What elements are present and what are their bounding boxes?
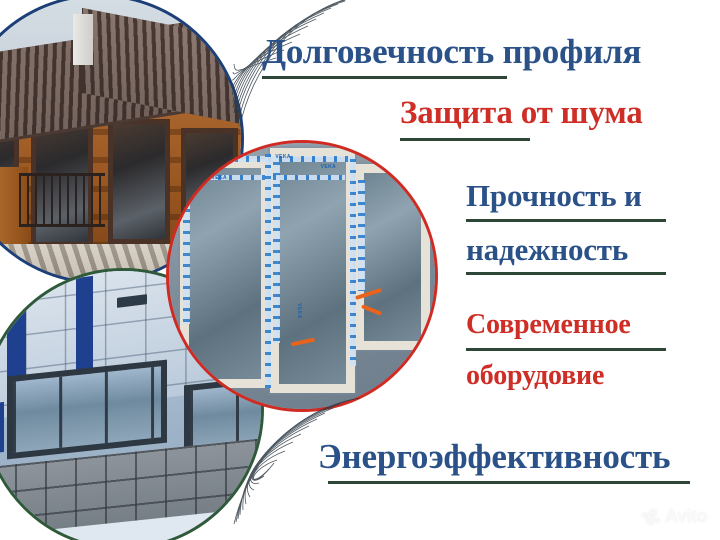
slogan-durability: Долговечность профиля xyxy=(262,32,641,72)
veka-brand-text: VEKA xyxy=(275,154,291,160)
slogan-equipment-line1: Современное xyxy=(466,309,631,341)
veka-brand-text: VEKA xyxy=(321,164,337,170)
chimney xyxy=(73,14,93,65)
avito-logo-icon xyxy=(642,509,661,525)
window-pane xyxy=(108,119,170,244)
windows-photo: VEKA VEKA VEKA VEKA VEKA xyxy=(169,143,435,409)
avito-wordmark: Avito xyxy=(665,506,707,527)
pvc-frame xyxy=(355,164,429,350)
slogan-underline xyxy=(262,76,507,79)
protective-tape xyxy=(265,154,271,388)
poster-canvas: VEKA VEKA VEKA VEKA VEKA xyxy=(0,0,720,540)
slogan-underline xyxy=(328,481,690,484)
slogan-underline xyxy=(400,138,530,141)
photo-circle-windows: VEKA VEKA VEKA VEKA VEKA xyxy=(166,140,438,412)
slogan-equipment-line2: оборудовие xyxy=(466,360,604,392)
slogan-underline xyxy=(466,348,666,351)
slogan-strength-line2: надежность xyxy=(466,232,628,268)
slogan-underline xyxy=(466,272,666,275)
slogan-strength-line1: Прочность и xyxy=(466,178,642,214)
pvc-frame xyxy=(180,159,270,388)
storefront-glazing xyxy=(7,359,167,459)
veka-brand-text: VEKA xyxy=(212,175,228,181)
veka-brand-text: VEKA xyxy=(204,159,220,165)
protective-tape xyxy=(350,159,356,366)
slogan-underline xyxy=(466,219,666,222)
balcony-railing xyxy=(19,173,104,227)
veka-brand-text: VEKA xyxy=(296,303,302,319)
blue-panel xyxy=(0,402,4,454)
avito-watermark: Avito xyxy=(642,506,707,527)
pvc-frame xyxy=(270,148,355,393)
slogan-energy-efficiency: Энергоэффективность xyxy=(318,437,670,477)
slogan-noise-protection: Защита от шума xyxy=(400,95,643,132)
